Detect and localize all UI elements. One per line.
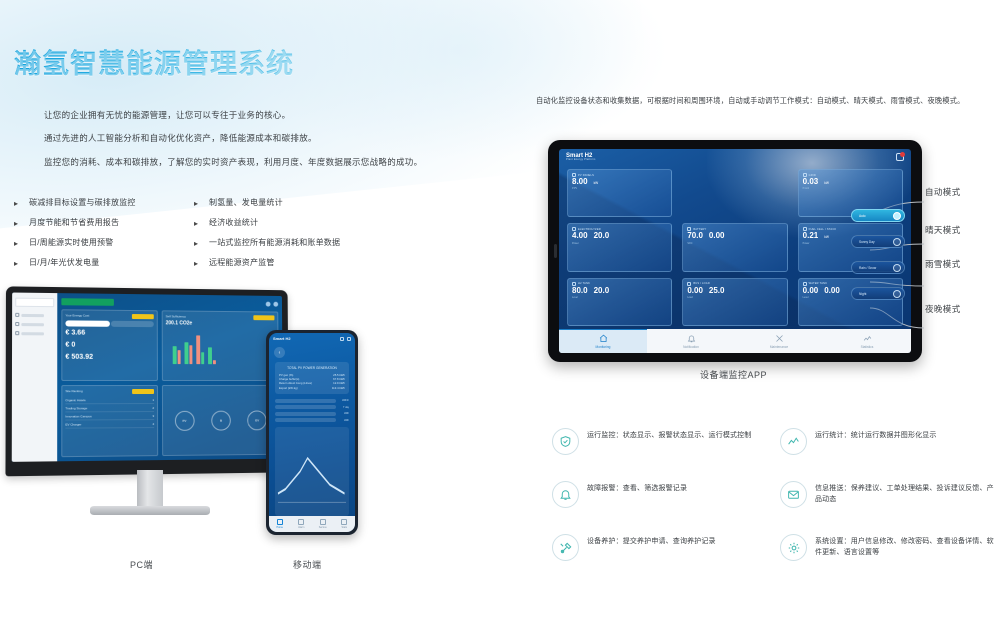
bullet-item: ▸ 制氢量、发电量统计: [194, 198, 434, 208]
kpi-label: [65, 337, 153, 340]
pc-bar-chart: [166, 327, 275, 365]
pc-main-area: Your Energy Cost € 3.66 € 0 € 503.92 Sel…: [57, 293, 283, 461]
bar-group: [173, 346, 181, 364]
pc-dashboard-screen: Your Energy Cost € 3.66 € 0 € 503.92 Sel…: [12, 293, 283, 462]
tablet-body: PV PANELS 8.00kW P.PV GRID 0.03kW P.Grid…: [559, 169, 911, 329]
callout-label-sunny-mode: 晴天模式: [925, 224, 961, 236]
row-label: Organic Hotels: [65, 398, 85, 402]
nav-label: Stats: [342, 526, 347, 529]
callout-label-rain-snow-mode: 雨雪模式: [925, 258, 961, 270]
gauge-ev: EV: [248, 410, 267, 430]
gear-icon: [780, 534, 807, 561]
toggle-knob: [893, 290, 901, 298]
monitor-stand: [137, 470, 163, 508]
progress-row: kWh/h: [275, 399, 349, 403]
bullet-item: ▸ 一站式监控所有能源消耗和账单数据: [194, 238, 434, 248]
intro-paragraphs: 让您的企业拥有无忧的能源管理，让您可以专往于业务的核心。 通过先进的人工智能分析…: [44, 110, 564, 180]
progress-track: [275, 412, 336, 416]
chart-icon: [863, 334, 872, 343]
card-sublabel: P.PV: [572, 187, 667, 190]
phone-nav-alarm[interactable]: Alarm: [291, 516, 313, 532]
page-title: 瀚氢智慧能源管理系统: [14, 42, 294, 81]
tab-label: Maintenance: [770, 345, 788, 349]
mode-toggle-rain-snow[interactable]: Rain / Snow: [851, 261, 905, 274]
card-unit: kW: [824, 182, 829, 185]
card-values: 0.0025.0: [687, 287, 782, 295]
progress-track: [275, 405, 336, 409]
bullet-marker-icon: ▸: [194, 219, 201, 228]
card-value-secondary: 20.0: [594, 287, 610, 295]
row-key: Export (kW·kg): [279, 386, 298, 390]
spacer: [117, 302, 263, 304]
card-unit: kW: [594, 182, 599, 185]
bullet-marker-icon: ▸: [14, 259, 21, 268]
menu-icon[interactable]: [347, 337, 351, 341]
feature-item-push-message: 信息推送：保养建议、工单处理结果、投诉建议反馈、产品动态: [780, 481, 998, 508]
card-sublabel: Power: [572, 242, 667, 245]
progress-label: kWh: [338, 412, 349, 415]
phone-progress-bars: kWh/h T day kWh kWh: [275, 399, 349, 423]
assets-icon: [15, 331, 19, 335]
pc-card-gauges: PV B EV: [162, 385, 279, 456]
feature-text: 故障报警：查看、筛选报警记录: [587, 481, 687, 495]
mode-label: Rain / Snow: [859, 266, 876, 270]
tablet-case: Smart H2 Plant Energy Platform PV PANELS…: [548, 140, 922, 362]
tablet-description: 自动化监控设备状态和收集数据，可根据时间和周围环境，自动或手动调节工作模式：自动…: [536, 96, 994, 106]
card-value: 0.21: [803, 232, 819, 240]
card-value-secondary: 20.0: [594, 232, 610, 240]
card-value: 0.03: [803, 178, 819, 186]
progress-label: kWh: [338, 419, 349, 422]
feature-item-monitoring: 运行监控：状态显示、报警状态显示、运行模式控制: [552, 428, 770, 455]
intro-line-2: 通过先进的人工智能分析和自动化优化资产，降低能源成本和碳排放。: [44, 133, 564, 144]
period-toggle[interactable]: [65, 320, 153, 327]
pc-card-site-ranking: Site Ranking Organic Hotels1 Trading Sto…: [61, 385, 158, 457]
card-values: 80.020.0: [572, 287, 667, 295]
pc-card-energy-cost: Your Energy Cost € 3.66 € 0 € 503.92: [61, 309, 158, 381]
card-values: 0.03kW: [803, 178, 898, 186]
nav-label: Alarm: [298, 526, 304, 529]
bullet-label: 一站式监控所有能源消耗和账单数据: [209, 238, 340, 248]
home-icon: [277, 519, 283, 525]
card-sublabel: SOC: [687, 242, 782, 245]
bell-icon[interactable]: [896, 153, 904, 161]
card-values: 70.00.00: [687, 232, 782, 240]
feature-text: 运行监控：状态显示、报警状态显示、运行模式控制: [587, 428, 751, 442]
phone-status-bar: Smart H2: [269, 333, 355, 344]
tab-label: Statistics: [861, 345, 874, 349]
mode-toggle-night[interactable]: Night: [851, 287, 905, 300]
tools-icon: [320, 519, 326, 525]
bullet-label: 远程能源资产监管: [209, 258, 275, 268]
bullet-label: 制氢量、发电量统计: [209, 198, 283, 208]
bullet-label: 日/月/年光伏发电量: [29, 258, 99, 268]
progress-track: [275, 399, 336, 403]
pc-dashboard-grid: Your Energy Cost € 3.66 € 0 € 503.92 Sel…: [61, 309, 279, 457]
bar-group: [208, 348, 216, 365]
bullet-item: ▸ 碳减排目标设置与碳排放监控: [14, 198, 194, 208]
pc-sidebar-item-cost-centre[interactable]: [15, 322, 54, 326]
device-card-pv-panels[interactable]: PV PANELS 8.00kW P.PV: [567, 169, 672, 217]
bullet-marker-icon: ▸: [194, 199, 201, 208]
bullet-item: ▸ 远程能源资产监管: [194, 258, 434, 268]
feature-item-maintenance: 设备养护：提交养护申请、查询养护记录: [552, 534, 770, 561]
gauge-solar: PV: [175, 410, 195, 430]
pc-sidebar: [12, 293, 58, 462]
feature-item-settings: 系统设置：用户信息修改、修改密码、查看设备详情、软件更新、语言设置等: [780, 534, 998, 561]
device-card-h2-tank[interactable]: H2 TANK 80.020.0 Level: [567, 278, 672, 326]
card-value-secondary: 0.00: [709, 232, 725, 240]
pc-sidebar-item-label: [21, 313, 44, 316]
card-sublabel: Load: [687, 296, 782, 299]
card-value: 0.00: [687, 287, 703, 295]
tab-statistics[interactable]: Statistics: [823, 329, 911, 353]
tablet-header: Smart H2 Plant Energy Platform: [559, 149, 911, 169]
line-chart-icon: [780, 428, 807, 455]
add-site-button[interactable]: [61, 298, 114, 306]
notification-badge: [900, 152, 905, 157]
gauge-group: PV B EV: [166, 389, 276, 452]
bullet-label: 碳减排目标设置与碳排放监控: [29, 198, 136, 208]
bell-icon: [298, 519, 304, 525]
pc-sidebar-item-label: [21, 323, 44, 326]
toggle-knob: [893, 238, 901, 246]
app-caption: 设备端监控APP: [700, 368, 767, 381]
mode-toggle-group: Auto Sunny Day Rain / Snow Night: [851, 209, 905, 300]
bell-icon: [687, 334, 696, 343]
tablet-brand: Smart H2 Plant Energy Platform: [566, 153, 595, 162]
chart-icon: [341, 519, 347, 525]
tab-notification[interactable]: Notification: [647, 329, 735, 353]
mode-label: Sunny Day: [859, 240, 875, 244]
row-value: 4: [152, 422, 154, 426]
progress-track: [275, 418, 336, 422]
intro-line-1: 让您的企业拥有无忧的能源管理，让您可以专往于业务的核心。: [44, 110, 564, 121]
pc-sidebar-item-label: [21, 332, 44, 335]
notification-icon[interactable]: [266, 301, 271, 306]
avatar[interactable]: [273, 301, 278, 306]
row-value: 113.4 kWh: [332, 386, 345, 390]
phone-bottom-nav: Home Alarm Service Stats: [269, 516, 355, 532]
toggle-knob: [893, 212, 901, 220]
card-value: 70.0: [687, 232, 703, 240]
card-spacer: [682, 169, 787, 217]
tab-monitoring[interactable]: Monitoring: [559, 329, 647, 353]
card-value: 8.00: [572, 178, 588, 186]
card-title: H2 TANK: [578, 282, 590, 285]
card-title: WATER TANK: [809, 282, 827, 285]
bullet-marker-icon: ▸: [14, 219, 21, 228]
mode-label: Auto: [859, 214, 866, 218]
card-title: BUS / LOAD: [693, 282, 710, 285]
card-values: 8.00kW: [572, 178, 667, 186]
feature-text: 信息推送：保养建议、工单处理结果、投诉建议反馈、产品动态: [815, 481, 998, 505]
card-value-secondary: 25.0: [709, 287, 725, 295]
progress-row: T day: [275, 405, 349, 409]
feature-item-alarm: 故障报警：查看、筛选报警记录: [552, 481, 770, 508]
bullet-marker-icon: ▸: [194, 259, 201, 268]
card-action-chip[interactable]: [253, 315, 274, 320]
feature-text: 设备养护：提交养护申请、查询养护记录: [587, 534, 716, 548]
bullet-item: ▸ 日/月/年光伏发电量: [14, 258, 194, 268]
bullet-marker-icon: ▸: [14, 199, 21, 208]
bullet-item: ▸ 月度节能和节省费用报告: [14, 218, 194, 228]
home-icon: [599, 334, 608, 343]
home-icon: [15, 313, 19, 317]
bullet-marker-icon: ▸: [14, 239, 21, 248]
phone-app-brand: Smart H2: [273, 336, 291, 341]
progress-label: T day: [338, 406, 349, 409]
card-value: 80.0: [572, 287, 588, 295]
mobile-phone-mockup: Smart H2 ‹ TOTAL PV POWER GENERATION PV …: [266, 330, 358, 542]
feature-item-statistics: 运行统计：统计运行数据并图形化显示: [780, 428, 998, 455]
bar-group: [184, 343, 192, 365]
card-value: 0.00: [803, 287, 819, 295]
row-label: Trading Storage: [65, 406, 87, 410]
bullet-label: 经济收益统计: [209, 218, 258, 228]
pc-sidebar-item-home[interactable]: [15, 313, 54, 317]
device-card-electrolyzer[interactable]: ELECTROLYZER 4.0020.0 Power: [567, 223, 672, 271]
row-value: 1: [152, 397, 154, 401]
tools-icon: [552, 534, 579, 561]
mode-toggle-auto[interactable]: Auto: [851, 209, 905, 222]
mode-toggle-sunny[interactable]: Sunny Day: [851, 235, 905, 248]
bell-icon: [552, 481, 579, 508]
mode-label: Night: [859, 292, 866, 296]
feature-icon-list: 运行监控：状态显示、报警状态显示、运行模式控制 运行统计：统计运行数据并图形化显…: [552, 428, 998, 561]
toggle-daily[interactable]: [65, 320, 109, 326]
toggle-monthly[interactable]: [110, 321, 153, 327]
phone-app-screen: Smart H2 ‹ TOTAL PV POWER GENERATION PV …: [269, 333, 355, 532]
toggle-knob: [893, 264, 901, 272]
progress-label: kWh/h: [338, 399, 349, 402]
bullet-item: ▸ 经济收益统计: [194, 218, 434, 228]
ranking-rows: Organic Hotels1 Trading Storage2 Innovat…: [65, 396, 154, 429]
nav-label: Service: [319, 526, 327, 529]
card-value-secondary: 0.00: [824, 287, 840, 295]
nav-label: Home: [277, 526, 283, 529]
feature-bullet-list: ▸ 碳减排目标设置与碳排放监控 ▸ 制氢量、发电量统计 ▸ 月度节能和节省费用报…: [14, 198, 434, 268]
callout-label-auto-mode: 自动模式: [925, 186, 961, 198]
row-value: 3: [152, 414, 154, 418]
tab-label: Monitoring: [596, 345, 611, 349]
callout-label-night-mode: 夜晚模式: [925, 303, 961, 315]
panel-row: Export (kW·kg)113.4 kWh: [279, 386, 345, 390]
gauge-battery: B: [211, 410, 231, 430]
phone-line-chart: [275, 427, 349, 516]
progress-row: kWh: [275, 418, 349, 422]
panel-title: TOTAL PV POWER GENERATION: [279, 366, 345, 370]
bullet-marker-icon: ▸: [194, 239, 201, 248]
brand-tagline: Plant Energy Platform: [566, 159, 595, 162]
pc-sidebar-item-smart-assets[interactable]: [15, 331, 54, 335]
card-value: 4.00: [572, 232, 588, 240]
monitor-bezel: Your Energy Cost € 3.66 € 0 € 503.92 Sel…: [5, 286, 289, 476]
feature-text: 运行统计：统计运行数据并图形化显示: [815, 428, 937, 442]
card-action-chip[interactable]: [132, 389, 154, 394]
tools-icon: [775, 334, 784, 343]
bullet-label: 月度节能和节省费用报告: [29, 218, 119, 228]
back-button[interactable]: ‹: [274, 347, 285, 358]
wallet-icon: [15, 322, 19, 326]
tab-label: Notification: [683, 345, 699, 349]
shield-check-icon: [552, 428, 579, 455]
tab-maintenance[interactable]: Maintenance: [735, 329, 823, 353]
phone-case: Smart H2 ‹ TOTAL PV POWER GENERATION PV …: [266, 330, 358, 535]
bullet-item: ▸ 日/周能源实时使用预警: [14, 238, 194, 248]
kpi-value: € 503.92: [65, 354, 154, 362]
row-label: EV Charger: [65, 422, 81, 426]
pv-generation-panel: TOTAL PV POWER GENERATION PV gen (%)25.5…: [275, 362, 349, 394]
kpi-label: [65, 349, 153, 352]
bar-group: [196, 336, 204, 365]
row-label: Innovation Campus: [65, 414, 91, 418]
device-card-load[interactable]: BUS / LOAD 0.0025.0 Load: [682, 278, 787, 326]
phone-nav-home[interactable]: Home: [269, 516, 291, 532]
kpi-value: € 3.66: [65, 329, 153, 340]
tablet-mockup: Smart H2 Plant Energy Platform PV PANELS…: [548, 140, 922, 362]
pc-card-self-sufficiency: Self Sufficiency 200.1 CO2e: [162, 310, 279, 381]
card-sublabel: Level: [572, 296, 667, 299]
tablet-bottom-nav: Monitoring Notification Maintenance Stat…: [559, 329, 911, 353]
intro-line-3: 监控您的消耗、成本和碳排放，了解您的实时资产表现，利用月度、年度数据展示您战略的…: [44, 157, 564, 168]
feature-text: 系统设置：用户信息修改、修改密码、查看设备详情、软件更新、语言设置等: [815, 534, 998, 558]
pc-logo: [15, 298, 54, 308]
phone-nav-service[interactable]: Service: [312, 516, 334, 532]
table-row[interactable]: EV Charger4: [65, 420, 154, 429]
card-unit: kW: [824, 236, 829, 239]
card-action-chip[interactable]: [132, 314, 154, 319]
monitor-base: [90, 506, 210, 515]
bullet-label: 日/周能源实时使用预警: [29, 238, 113, 248]
pc-monitor-mockup: Your Energy Cost € 3.66 € 0 € 503.92 Sel…: [8, 288, 292, 528]
mobile-caption: 移动端: [293, 558, 322, 571]
pc-topbar: [61, 297, 278, 307]
card-values: 4.0020.0: [572, 232, 667, 240]
card-sublabel: P.Grid: [803, 187, 898, 190]
search-icon[interactable]: [340, 337, 344, 341]
pc-caption: PC端: [130, 558, 153, 571]
envelope-icon: [780, 481, 807, 508]
phone-nav-stats[interactable]: Stats: [334, 516, 356, 532]
device-card-battery[interactable]: BATTERY 70.00.00 SOC: [682, 223, 787, 271]
progress-row: kWh: [275, 412, 349, 416]
tablet-screen: Smart H2 Plant Energy Platform PV PANELS…: [559, 149, 911, 353]
row-value: 2: [152, 405, 154, 409]
kpi-value: € 0: [65, 342, 153, 353]
